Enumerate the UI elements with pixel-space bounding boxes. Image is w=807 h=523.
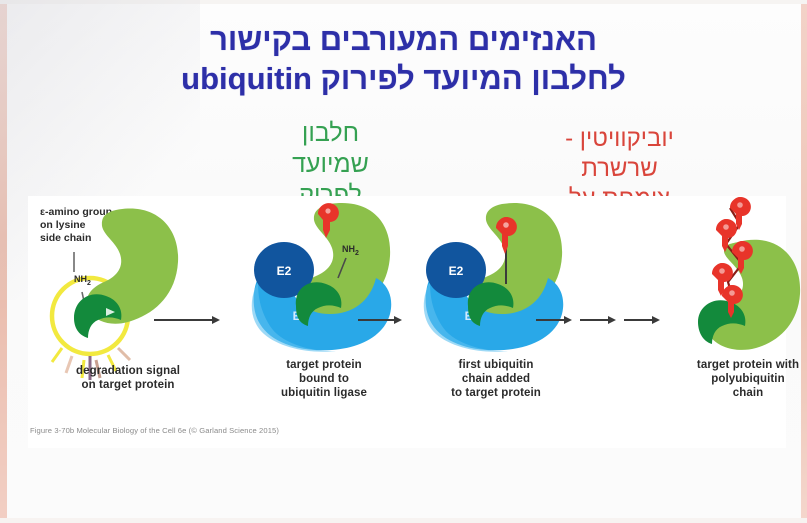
- e2-label: E2: [277, 264, 292, 278]
- panel-2-caption: target protein bound to ubiquitin ligase: [234, 358, 414, 400]
- nh2-subscript: 2: [355, 250, 359, 257]
- panel-4-caption-line-3: chain: [668, 386, 807, 400]
- panel-1-caption-line-2: on target protein: [28, 378, 228, 392]
- panel-4-caption: target protein with polyubiquitin chain: [668, 358, 807, 400]
- annotation-red-line-2: שרשרת: [512, 154, 727, 184]
- arrow-step-3-to-4-b: [580, 314, 616, 326]
- annotation-green-line-2: שמיועד: [243, 149, 418, 180]
- slide-top-border: [0, 0, 807, 4]
- title-line-2: לחלבון המיועד לפירוק ubiquitin: [0, 59, 807, 98]
- nh2-subscript: 2: [87, 280, 91, 287]
- nh2-text: NH: [74, 274, 87, 284]
- slide-canvas: האנזימים המעורבים בקישור לחלבון המיועד ל…: [0, 0, 807, 523]
- nh2-group-label-panel-2: NH2: [342, 244, 359, 257]
- panel-2-caption-line-1: target protein: [234, 358, 414, 372]
- textbook-figure: ε-amino group on lysine side chain: [28, 196, 786, 448]
- panel-1-caption-line-1: degradation signal: [28, 364, 228, 378]
- panel-4-caption-line-2: polyubiquitin: [668, 372, 807, 386]
- slide-title: האנזימים המעורבים בקישור לחלבון המיועד ל…: [0, 20, 807, 98]
- nh2-group-label-panel-1: NH2: [74, 274, 91, 287]
- panel-2-caption-line-2: bound to: [234, 372, 414, 386]
- panel-3-caption-line-2: chain added: [406, 372, 586, 386]
- annotation-green-line-1: חלבון: [243, 118, 418, 149]
- panel-4-caption-line-1: target protein with: [668, 358, 807, 372]
- panel-1-caption: degradation signal on target protein: [28, 364, 228, 392]
- lysine-binding-pocket: [74, 294, 121, 338]
- title-line-1: האנזימים המעורבים בקישור: [0, 20, 807, 59]
- panel-3-caption: first ubiquitin chain added to target pr…: [406, 358, 586, 400]
- arrow-step-2-to-3: [358, 314, 402, 326]
- nh2-text: NH: [342, 244, 355, 254]
- title-ubiquitin-word: ubiquitin: [181, 61, 312, 96]
- arrow-step-3-to-4-a: [536, 314, 572, 326]
- panel-3-caption-line-1: first ubiquitin: [406, 358, 586, 372]
- e2-label: E2: [449, 264, 464, 278]
- arrow-step-3-to-4-c: [624, 314, 660, 326]
- figure-credit: Figure 3-70b Molecular Biology of the Ce…: [30, 426, 279, 435]
- arrow-step-1-to-2: [154, 314, 220, 326]
- panel-3-caption-line-3: to target protein: [406, 386, 586, 400]
- panel-2-caption-line-3: ubiquitin ligase: [234, 386, 414, 400]
- panel-polyubiquitinated-protein: target protein with polyubiquitin chain: [668, 196, 807, 448]
- annotation-red-line-1: יוביקוויטין -: [512, 124, 727, 154]
- panel-1-graphic: [28, 196, 228, 386]
- slide-bottom-border: [0, 518, 807, 523]
- title-hebrew-part: לחלבון המיועד לפירוק: [321, 61, 626, 96]
